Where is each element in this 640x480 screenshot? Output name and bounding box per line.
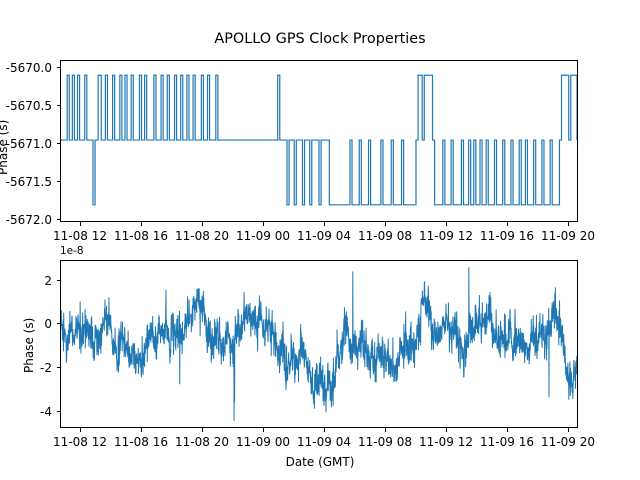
phase-ytick-mark-2 (57, 367, 61, 368)
clock-xtick-label-4: 11-09 04 (294, 230, 354, 242)
clock-ytick-mark-1 (57, 105, 61, 106)
phase-xtick-mark-4 (324, 428, 325, 432)
phase-xtick-label-5: 11-09 08 (355, 436, 415, 448)
phase-xtick-label-2: 11-08 20 (172, 436, 232, 448)
phase-ytick-mark-1 (57, 323, 61, 324)
phase-xtick-mark-8 (568, 428, 569, 432)
phase-xtick-label-4: 11-09 04 (294, 436, 354, 448)
phase-y-offset-text: 1e-8 (60, 245, 84, 257)
clock-properties-axes (60, 60, 578, 222)
matplotlib-figure: APOLLO GPS Clock Properties -5670.0 -567… (0, 0, 640, 480)
clock-ytick-label-1: -5670.5 (0, 100, 52, 112)
phase-xtick-label-6: 11-09 12 (416, 436, 476, 448)
clock-xtick-mark-0 (80, 222, 81, 226)
clock-ytick-label-4: -5672.0 (0, 214, 52, 226)
phase-ylabel: Phase (s) (22, 318, 36, 373)
phase-xtick-label-0: 11-08 12 (50, 436, 110, 448)
phase-xtick-label-1: 11-08 16 (111, 436, 171, 448)
clock-xtick-label-6: 11-09 12 (416, 230, 476, 242)
clock-xtick-mark-6 (446, 222, 447, 226)
clock-xtick-mark-8 (568, 222, 569, 226)
clock-ylabel: Phase (s) (0, 120, 10, 175)
phase-ytick-label-3: -4 (0, 406, 52, 418)
phase-noise-line (61, 261, 577, 427)
phase-ytick-mark-0 (57, 280, 61, 281)
clock-xtick-label-3: 11-09 00 (233, 230, 293, 242)
phase-xtick-mark-6 (446, 428, 447, 432)
phase-axes (60, 260, 578, 428)
clock-xtick-mark-2 (202, 222, 203, 226)
clock-ytick-label-3: -5671.5 (0, 176, 52, 188)
x-axis-label: Date (GMT) (0, 455, 640, 469)
figure-title: APOLLO GPS Clock Properties (0, 30, 640, 48)
clock-xtick-mark-3 (263, 222, 264, 226)
clock-xtick-label-0: 11-08 12 (50, 230, 110, 242)
clock-xtick-label-2: 11-08 20 (172, 230, 232, 242)
clock-xtick-mark-5 (385, 222, 386, 226)
clock-xtick-label-8: 11-09 20 (538, 230, 598, 242)
phase-xtick-label-7: 11-09 16 (477, 436, 537, 448)
phase-xtick-mark-5 (385, 428, 386, 432)
phase-xtick-mark-2 (202, 428, 203, 432)
phase-xtick-label-3: 11-09 00 (233, 436, 293, 448)
clock-xtick-mark-4 (324, 222, 325, 226)
clock-ytick-label-0: -5670.0 (0, 62, 52, 74)
clock-ytick-mark-0 (57, 67, 61, 68)
clock-ytick-mark-2 (57, 143, 61, 144)
phase-ytick-label-0: 2 (0, 275, 52, 287)
phase-xtick-mark-0 (80, 428, 81, 432)
clock-xtick-label-5: 11-09 08 (355, 230, 415, 242)
clock-step-line (61, 61, 577, 221)
clock-ytick-mark-3 (57, 181, 61, 182)
phase-xtick-mark-3 (263, 428, 264, 432)
clock-xtick-mark-7 (507, 222, 508, 226)
clock-xtick-label-1: 11-08 16 (111, 230, 171, 242)
clock-ytick-mark-4 (57, 219, 61, 220)
clock-xtick-mark-1 (141, 222, 142, 226)
clock-xtick-label-7: 11-09 16 (477, 230, 537, 242)
phase-xtick-mark-7 (507, 428, 508, 432)
phase-xtick-mark-1 (141, 428, 142, 432)
phase-ytick-mark-3 (57, 411, 61, 412)
phase-xtick-label-8: 11-09 20 (538, 436, 598, 448)
